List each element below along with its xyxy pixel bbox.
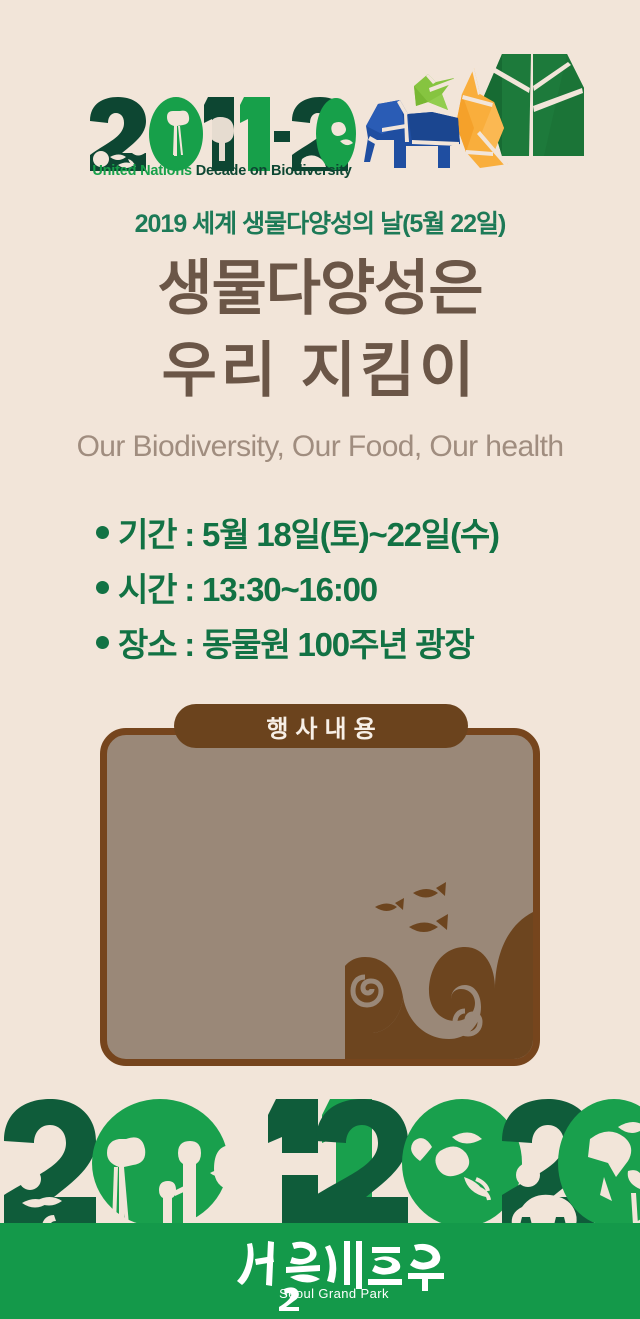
list-item: 시간 : 13:30~16:00	[96, 563, 600, 618]
poster-kicker: 2019 세계 생물다양성의 날(5월 22일)	[0, 204, 640, 240]
decade-biodiversity-silhouette-band	[0, 1097, 640, 1237]
origami-bird-green	[414, 74, 454, 110]
bullet-dot-icon	[96, 526, 109, 539]
event-details-list: 기간 : 5월 18일(토)~22일(수) 시간 : 13:30~16:00 장…	[96, 508, 600, 673]
bullet-dot-icon	[96, 636, 109, 649]
top-logo-row: United Nations Decade on Biodiversity	[0, 18, 640, 188]
seoul-grand-park-en-label: Seoul Grand Park	[0, 1286, 640, 1301]
event-detail-period: 기간 : 5월 18일(토)~22일(수)	[118, 508, 499, 556]
wave-and-fish-icon	[345, 881, 535, 1061]
fish-icon	[375, 882, 448, 932]
poster-canvas: United Nations Decade on Biodiversity	[0, 0, 640, 1319]
event-content-box: ‘생물다양성, Our Biodiversity, Our Food, Our …	[100, 728, 540, 1066]
poster-title-line1: 생물다양성은	[0, 252, 640, 326]
un-logo-wordmark-dark: Decade on Biodiversity	[192, 163, 352, 179]
event-detail-time: 시간 : 13:30~16:00	[118, 563, 377, 611]
event-content-header-pill: 행사내용	[174, 704, 468, 748]
list-item: 장소 : 동물원 100주년 광장	[96, 618, 600, 673]
origami-tree-darkgreen	[484, 52, 584, 158]
un-logo-wordmark: United Nations Decade on Biodiversity	[88, 163, 356, 179]
event-detail-place: 장소 : 동물원 100주년 광장	[118, 618, 474, 666]
un-logo-wordmark-bright: United Nations	[92, 163, 192, 179]
poster-english-subtitle: Our Biodiversity, Our Food, Our health	[0, 430, 640, 464]
origami-elephant-blue	[364, 100, 460, 168]
poster-title-line2: 우리 지킴이	[0, 334, 640, 408]
origami-animals-illustration	[362, 28, 632, 188]
list-item: 기간 : 5월 18일(토)~22일(수)	[96, 508, 600, 563]
bullet-dot-icon	[96, 581, 109, 594]
